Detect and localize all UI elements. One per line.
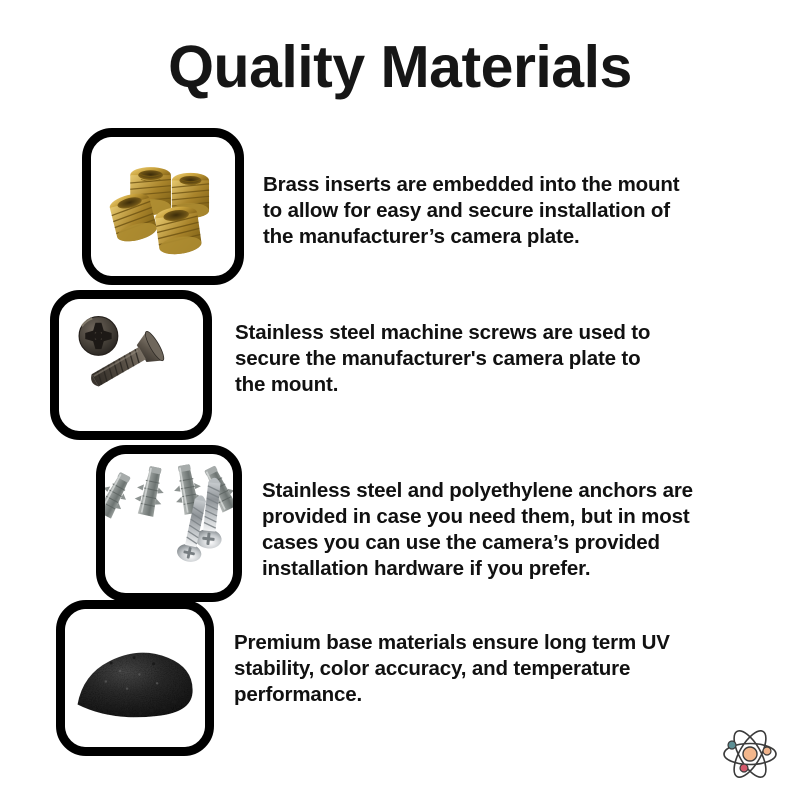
page-title: Quality Materials — [0, 38, 800, 97]
brass-threaded-inserts-frame — [82, 128, 244, 285]
stainless-machine-screw-frame — [50, 290, 212, 440]
wall-anchors-and-screws-frame — [96, 445, 242, 602]
caption-anchors: Stainless steel and polyethylene anchors… — [262, 478, 732, 582]
caption-brass-inserts: Brass inserts are embedded into the moun… — [263, 172, 733, 250]
caption-base-materials: Premium base materials ensure long term … — [234, 630, 724, 708]
wall-anchors-and-screws-photo — [105, 454, 233, 593]
brass-threaded-inserts-photo — [91, 137, 235, 276]
stainless-machine-screw-photo — [59, 299, 203, 431]
black-plastic-pellets-frame — [56, 600, 214, 756]
infographic-page: Quality Materials — [0, 0, 800, 800]
black-plastic-pellets-photo — [65, 609, 205, 747]
atom-logo — [718, 722, 782, 786]
caption-machine-screws: Stainless steel machine screws are used … — [235, 320, 715, 398]
